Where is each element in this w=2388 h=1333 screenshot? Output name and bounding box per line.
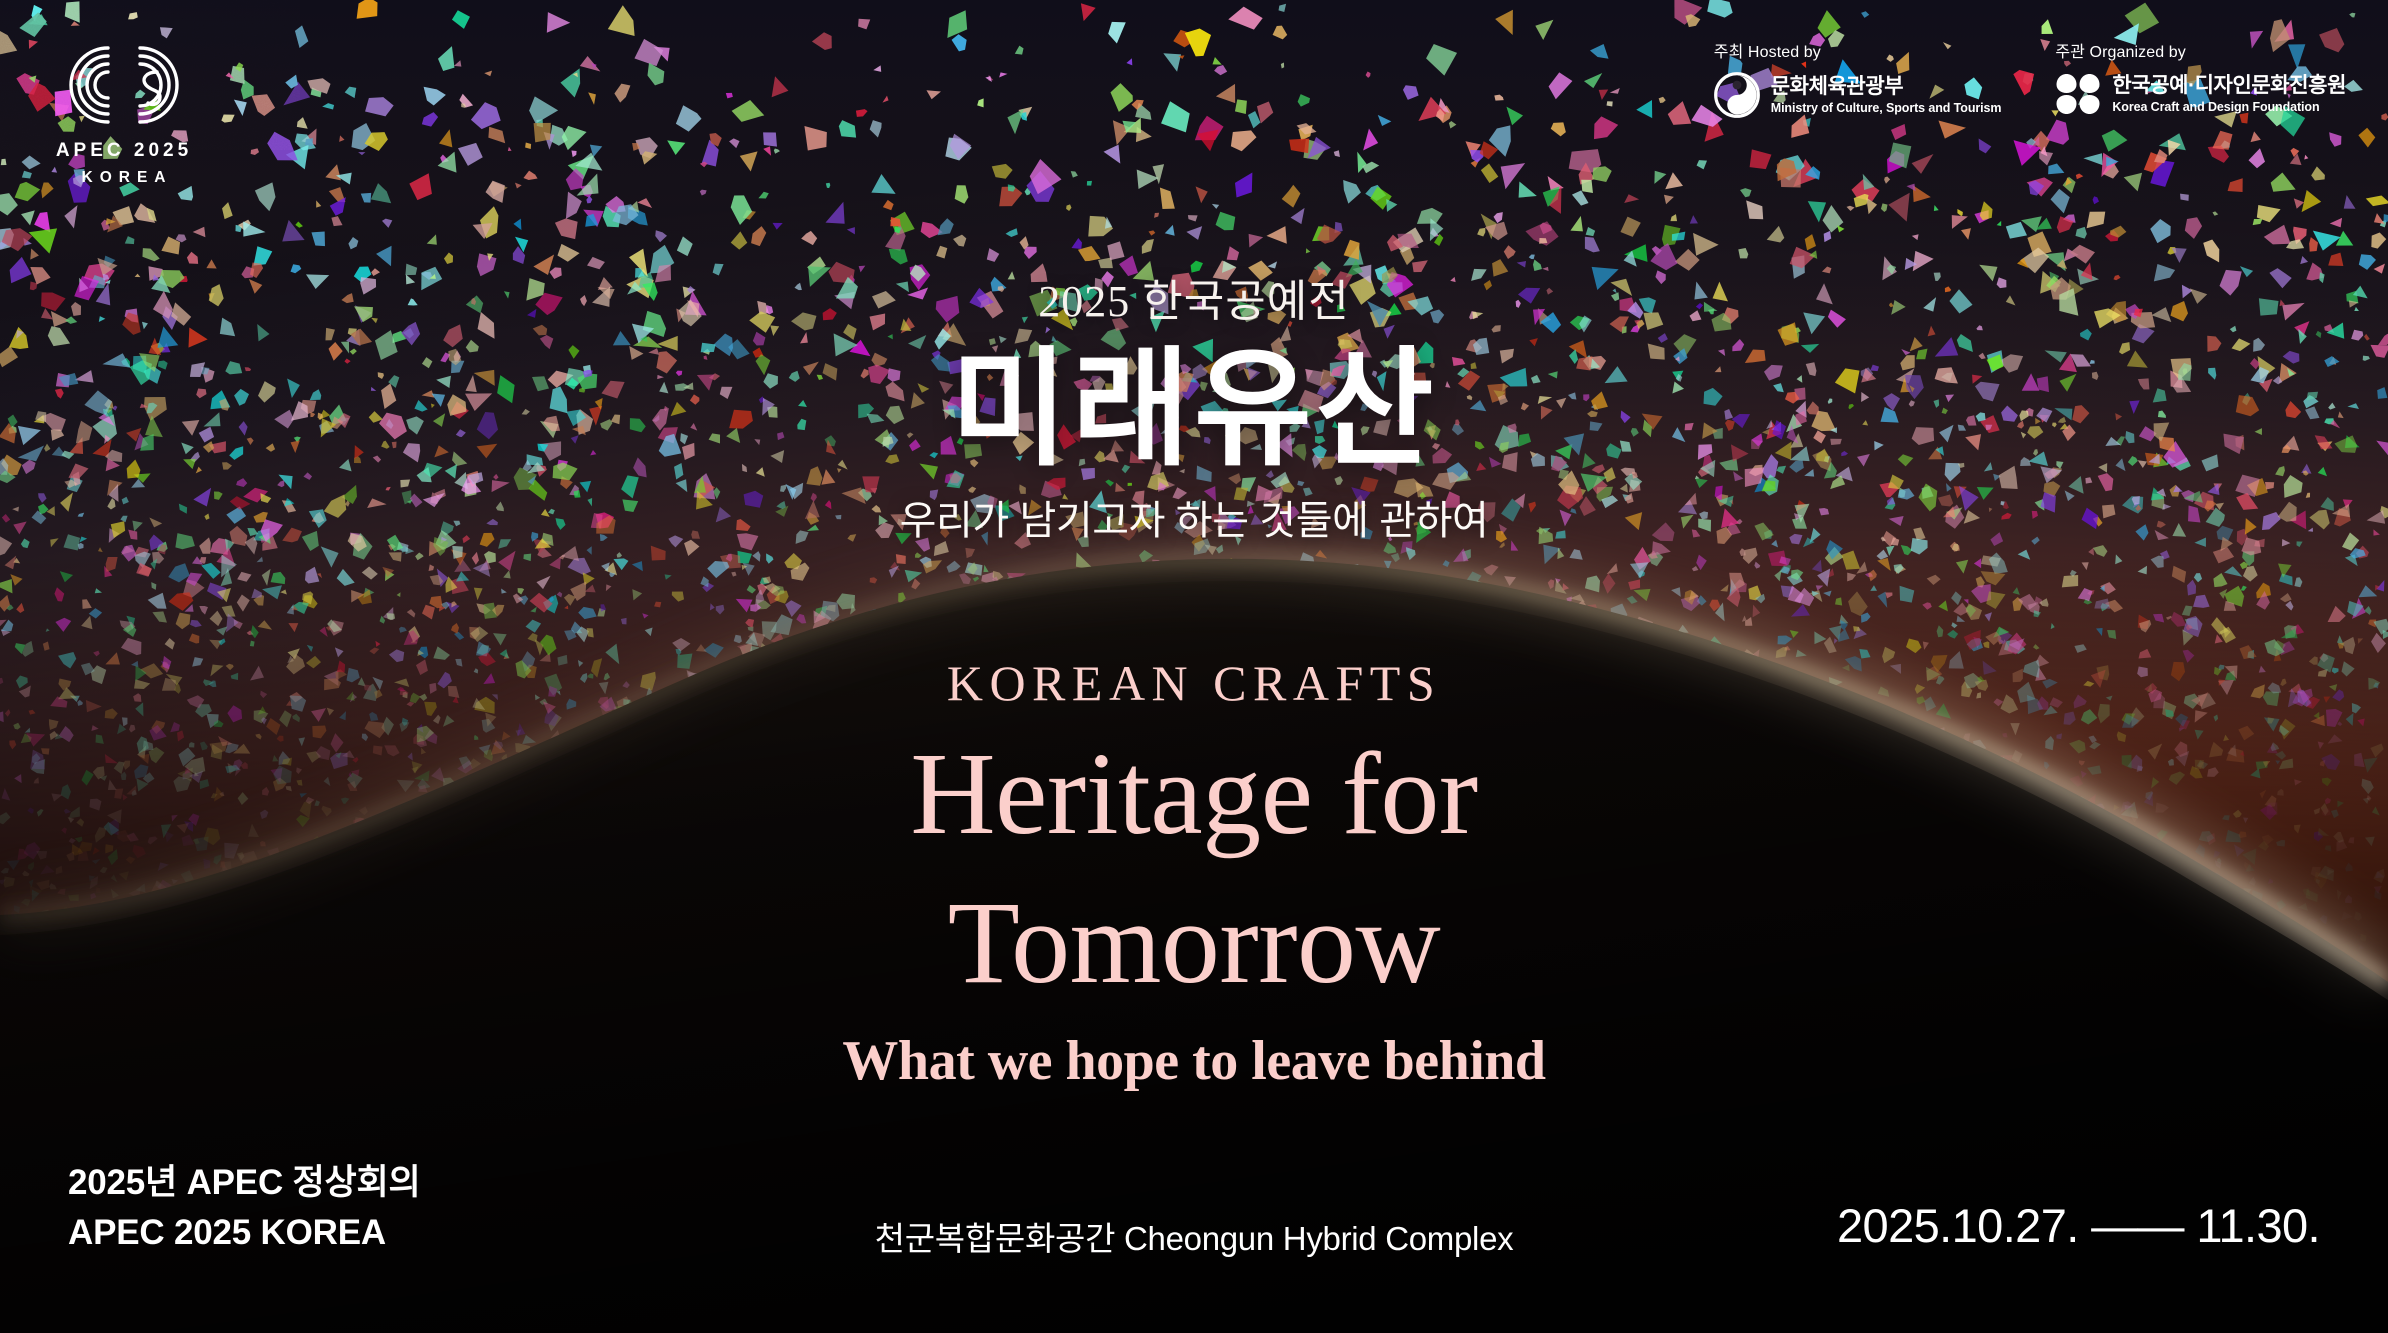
apec-logo-name: APEC 2025: [44, 139, 204, 163]
english-subtitle: What we hope to leave behind: [0, 1033, 2388, 1089]
footer-summit-info: 2025년 APEC 정상회의 APEC 2025 KOREA: [68, 1158, 421, 1257]
poster-canvas: APEC 2025 KOREA 주최 Hosted by 문화체육관광부 Min…: [0, 0, 2388, 1333]
footer-venue: 천군복합문화공간 Cheongun Hybrid Complex: [875, 1212, 1514, 1260]
korean-eyebrow: 2025 한국공예전: [0, 280, 2388, 324]
english-main-title-line2: Tomorrow: [0, 879, 2388, 1006]
apec-logo-country: KOREA: [44, 169, 204, 188]
sponsor-name-en: Korea Craft and Design Foundation: [2112, 100, 2346, 114]
sponsor-organized-by[interactable]: 주관 Organized by 한국공예·디자인문화진흥원 Korea Craf…: [2055, 38, 2346, 116]
english-title-block: KOREAN CRAFTS Heritage for Tomorrow What…: [0, 658, 2388, 1089]
english-eyebrow: KOREAN CRAFTS: [0, 658, 2388, 708]
korean-subtitle: 우리가 남기고자 하는 것들에 관하여: [0, 501, 2388, 541]
korean-title-block: 2025 한국공예전 미래유산 우리가 남기고자 하는 것들에 관하여: [0, 280, 2388, 541]
korean-main-title: 미래유산: [0, 344, 2388, 477]
apec-logo[interactable]: APEC 2025 KOREA: [44, 42, 204, 187]
apec-2025-korea-arcs-logo-icon: [61, 42, 187, 128]
taegeuk-swirl-emblem-icon: [1714, 72, 1760, 118]
sponsor-logos-group: 주최 Hosted by 문화체육관광부 Ministry of Culture…: [1714, 38, 2346, 118]
sponsor-name-ko: 문화체육관광부: [1771, 75, 2002, 99]
sponsor-hosted-by[interactable]: 주최 Hosted by 문화체육관광부 Ministry of Culture…: [1714, 38, 2002, 118]
four-petal-cluster-icon: [2055, 72, 2101, 116]
footer-date-range: 2025.10.27. —— 11.30.: [1837, 1198, 2320, 1253]
footer-summit-ko: 2025년 APEC 정상회의: [68, 1158, 421, 1208]
footer-summit-en: APEC 2025 KOREA: [68, 1208, 421, 1258]
sponsor-role-label: 주최 Hosted by: [1714, 38, 2002, 62]
sponsor-name-ko: 한국공예·디자인문화진흥원: [2112, 74, 2346, 98]
sponsor-name-en: Ministry of Culture, Sports and Tourism: [1771, 101, 2002, 115]
sponsor-role-label: 주관 Organized by: [2055, 38, 2346, 62]
english-main-title-line1: Heritage for: [0, 730, 2388, 857]
